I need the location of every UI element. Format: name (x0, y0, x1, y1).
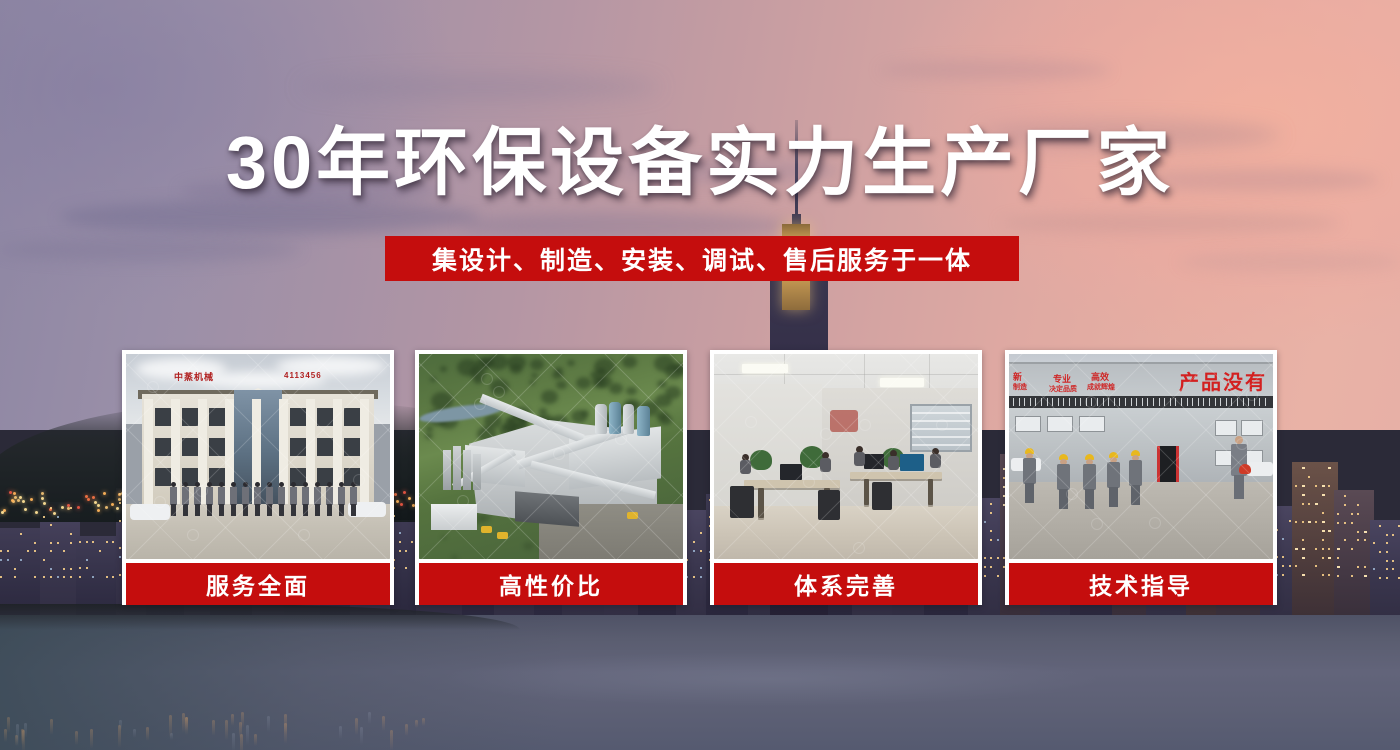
card-photo-office-interior (714, 354, 978, 559)
tree (541, 390, 558, 404)
window-with-blinds (910, 404, 972, 452)
light-reflection (16, 724, 19, 747)
light-reflection (390, 730, 393, 750)
vent-tick (1125, 398, 1126, 406)
tree (654, 355, 675, 372)
building-window (182, 438, 198, 456)
blind-slat (912, 420, 970, 422)
factory-slogan: 决定品质 (1049, 384, 1077, 394)
staff-member (266, 482, 273, 516)
vent-tick (1013, 398, 1014, 406)
tree (567, 360, 575, 366)
office-worker (854, 446, 866, 470)
light-reflection (415, 720, 418, 728)
vent-tick (1075, 398, 1076, 406)
vent-tick (1254, 398, 1255, 406)
factory-window (1079, 416, 1105, 432)
staff-member (278, 482, 285, 516)
light-reflection (422, 718, 425, 726)
card-caption-text: 高性价比 (499, 567, 603, 601)
excavator (627, 512, 638, 519)
tree (657, 380, 667, 388)
promotional-banner: 30年环保设备实力生产厂家 集设计、制造、安装、调试、售后服务于一体 中蒸机械 … (0, 0, 1400, 750)
cloud (880, 60, 1110, 80)
tree (590, 371, 600, 379)
building-window (182, 408, 198, 426)
desk (744, 480, 840, 488)
light-reflection (24, 723, 27, 738)
tree (490, 379, 510, 395)
cloud (300, 74, 660, 100)
vent-tick (1030, 398, 1031, 406)
laptop (780, 464, 802, 480)
staff-member (290, 482, 297, 516)
vent-tick (1170, 398, 1171, 406)
tree (530, 359, 544, 371)
vent-tick (1259, 398, 1260, 406)
light-reflection (339, 726, 342, 739)
light-reflection (119, 720, 122, 730)
vent-tick (1209, 398, 1210, 406)
vent-tick (1069, 398, 1070, 406)
excavator (481, 526, 492, 533)
factory-window (1015, 416, 1041, 432)
held-red-helmet (1239, 464, 1251, 474)
light-reflection (185, 717, 188, 730)
vent-tick (1063, 398, 1064, 406)
light-reflection (267, 716, 270, 732)
vent-tick (1175, 398, 1176, 406)
wall-emblem (830, 410, 858, 432)
vent-tick (1103, 398, 1104, 406)
tree (430, 377, 437, 382)
staff-member (326, 482, 333, 516)
river-sheen (320, 644, 1220, 714)
building-window (290, 438, 306, 456)
vent-tick (1243, 398, 1244, 406)
facade-column (144, 399, 153, 504)
vent-tick (1108, 398, 1109, 406)
tree (510, 364, 522, 374)
shed-roof (515, 491, 579, 527)
vent-tick (1187, 398, 1188, 406)
building-company-sign: 中蒸机械 (174, 370, 214, 383)
building-window (155, 408, 171, 426)
building-phone-number: 4113456 (284, 371, 322, 380)
vent-tick (1248, 398, 1249, 406)
light-reflection (382, 716, 385, 731)
building-window (209, 438, 225, 456)
blind-slat (912, 444, 970, 446)
card-photo-factory-workers: 产品没有 新 制造 专业 决定品质 高效 成就辉煌 (1009, 354, 1273, 559)
building-window (155, 438, 171, 456)
parked-car (130, 504, 170, 520)
processing-tower (463, 450, 471, 490)
staff-member (194, 482, 201, 516)
processing-tower (453, 446, 461, 490)
light-reflection (50, 719, 53, 736)
light-reflection (360, 727, 363, 745)
vent-tick (1035, 398, 1036, 406)
tree (470, 366, 486, 379)
card-caption-bar: 高性价比 (419, 563, 683, 605)
blind-slat (912, 428, 970, 430)
office-worker (930, 448, 942, 472)
feature-card[interactable]: 高性价比 (415, 350, 687, 605)
building-window (317, 438, 333, 456)
feature-card[interactable]: 产品没有 新 制造 专业 决定品质 高效 成就辉煌 (1005, 350, 1277, 605)
page-title: 30年环保设备实力生产厂家 (0, 126, 1400, 200)
vent-tick (1220, 398, 1221, 406)
facade-vent-band (1009, 396, 1273, 408)
light-reflection (146, 727, 149, 741)
staff-member (314, 482, 321, 516)
light-reflection (254, 734, 257, 747)
office-chair (872, 482, 892, 510)
blind-slat (912, 436, 970, 438)
vent-tick (1153, 398, 1154, 406)
factory-slogan: 制造 (1013, 382, 1027, 392)
vent-tick (1192, 398, 1193, 406)
vent-tick (1181, 398, 1182, 406)
subtitle-text: 集设计、制造、安装、调试、售后服务于一体 (432, 241, 972, 277)
door-stripe (1176, 446, 1179, 484)
light-reflection (368, 712, 371, 725)
staff-member (254, 482, 261, 516)
vent-tick (1215, 398, 1216, 406)
blind-slat (912, 412, 970, 414)
vent-tick (1019, 398, 1020, 406)
light-reflection (246, 725, 249, 746)
light-reflection (232, 733, 235, 750)
tree (622, 356, 637, 368)
vent-tick (1119, 398, 1120, 406)
vent-tick (1086, 398, 1087, 406)
building-window (344, 408, 360, 426)
silo (609, 402, 621, 434)
staff-member (338, 482, 345, 516)
tree (426, 426, 433, 432)
vent-tick (1164, 398, 1165, 406)
light-reflection (355, 718, 358, 735)
vent-tick (1226, 398, 1227, 406)
ceiling-light (742, 364, 788, 373)
staff-member (182, 482, 189, 516)
building-window (317, 408, 333, 426)
feature-card-row: 中蒸机械 4113456 服务全面 (0, 350, 1400, 610)
card-caption-text: 服务全面 (206, 567, 310, 601)
vent-tick (1131, 398, 1132, 406)
monitor (864, 454, 884, 469)
building-window (344, 438, 360, 456)
office-worker (888, 450, 900, 474)
vent-tick (1147, 398, 1148, 406)
office-worker (820, 452, 832, 476)
vent-tick (1203, 398, 1204, 406)
vent-tick (1047, 398, 1048, 406)
vent-tick (1052, 398, 1053, 406)
light-reflection (284, 714, 287, 734)
tree (571, 410, 587, 423)
vent-tick (1142, 398, 1143, 406)
vent-tick (1024, 398, 1025, 406)
vent-tick (1097, 398, 1098, 406)
river (0, 615, 1400, 750)
light-reflection (169, 715, 172, 738)
light-reflection (405, 724, 408, 736)
light-reflection (231, 714, 234, 726)
tree (659, 415, 672, 425)
card-caption-bar: 体系完善 (714, 563, 978, 605)
factory-window (1241, 420, 1263, 436)
monitor (900, 454, 924, 471)
staff-member (242, 482, 249, 516)
office-chair (818, 490, 840, 520)
factory-door (1157, 446, 1179, 484)
staff-member (170, 482, 177, 516)
card-photo-industrial-plant (419, 354, 683, 559)
vent-tick (1114, 398, 1115, 406)
factory-window (1215, 420, 1237, 436)
tree (665, 386, 681, 399)
light-reflection (7, 717, 10, 733)
desk-leg (928, 479, 933, 505)
feature-card[interactable]: 中蒸机械 4113456 服务全面 (122, 350, 394, 605)
light-reflection (90, 729, 93, 749)
staff-member (302, 482, 309, 516)
building-window (155, 468, 171, 486)
vent-tick (1198, 398, 1199, 406)
factory-main-sign: 产品没有 (1179, 366, 1267, 395)
office-chair (730, 486, 754, 518)
tree (552, 371, 562, 379)
vent-tick (1231, 398, 1232, 406)
light-reflection (133, 729, 136, 738)
tree (425, 433, 432, 439)
staff-member (350, 482, 357, 516)
card-photo-headquarters: 中蒸机械 4113456 (126, 354, 390, 559)
processing-tower (473, 454, 481, 490)
excavator (497, 532, 508, 539)
vent-tick (1091, 398, 1092, 406)
processing-tower (443, 450, 451, 490)
ceiling-light (880, 378, 924, 387)
feature-card[interactable]: 体系完善 (710, 350, 982, 605)
card-caption-text: 技术指导 (1089, 567, 1193, 601)
office-worker (740, 454, 752, 478)
staff-member (230, 482, 237, 516)
card-caption-bar: 服务全面 (126, 563, 390, 605)
tree (451, 555, 458, 559)
staff-member (218, 482, 225, 516)
tree (626, 387, 637, 396)
silo (595, 404, 607, 434)
desk-leg (758, 488, 764, 518)
factory-slogan: 成就辉煌 (1087, 382, 1115, 392)
building-window (209, 408, 225, 426)
card-caption-bar: 技术指导 (1009, 563, 1273, 605)
light-reflection (75, 731, 78, 746)
vent-tick (1041, 398, 1042, 406)
card-caption-text: 体系完善 (794, 567, 898, 601)
staff-member (206, 482, 213, 516)
silo (623, 404, 634, 434)
vent-tick (1136, 398, 1137, 406)
vent-tick (1237, 398, 1238, 406)
silo (637, 406, 650, 436)
office-block (431, 504, 477, 530)
subtitle-bar: 集设计、制造、安装、调试、售后服务于一体 (385, 236, 1019, 281)
ceiling-grid (714, 374, 978, 375)
potted-plant (750, 450, 772, 470)
vent-tick (1159, 398, 1160, 406)
door-stripe (1157, 446, 1160, 484)
facade-column (360, 399, 369, 504)
vent-tick (1058, 398, 1059, 406)
light-reflection (212, 720, 215, 737)
vent-tick (1265, 398, 1266, 406)
cloud (1000, 212, 1340, 234)
building-window (290, 408, 306, 426)
desk-leg (864, 479, 869, 505)
light-reflection (241, 712, 244, 728)
light-reflection (225, 720, 228, 740)
cloud (60, 200, 480, 234)
factory-window (1047, 416, 1073, 432)
vent-tick (1080, 398, 1081, 406)
